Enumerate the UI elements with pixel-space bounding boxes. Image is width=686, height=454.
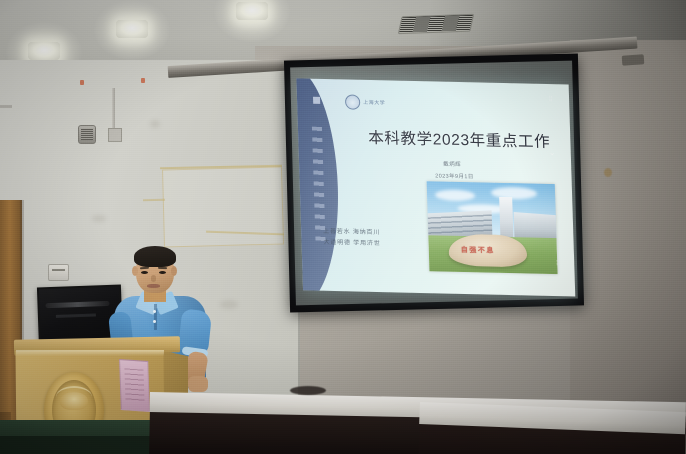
presenter-ear-right: [171, 266, 177, 276]
lecture-hall-photo: 上海大学 本科教学2023年重点工作 戴炳辉 2023年9月1日 上善若水 海纳…: [0, 0, 686, 454]
presenter-eye-left: [141, 271, 148, 274]
tape-strip: [143, 199, 165, 201]
presenter-eye-right: [159, 271, 166, 274]
presenter-hand-right: [188, 376, 208, 392]
presenter-placket: [154, 304, 157, 330]
slide-title: 本科教学2023年重点工作: [368, 126, 569, 153]
tape-outline-rectangle: [162, 166, 284, 247]
presenter-brow-right: [158, 267, 167, 269]
slide-date: 2023年9月1日: [399, 171, 509, 181]
photo-engraved-stone: 自强不息: [448, 234, 527, 268]
slide-author: 戴炳辉: [407, 159, 497, 169]
conduit-junction-box: [108, 128, 122, 142]
downlight-icon: [116, 20, 148, 38]
wall-speaker-icon: [78, 125, 96, 144]
conduit-pipe: [112, 88, 115, 130]
university-emblem-icon: [345, 94, 360, 109]
projection-screen: 上海大学 本科教学2023年重点工作 戴炳辉 2023年9月1日 上善若水 海纳…: [284, 53, 584, 312]
ac-vent-icon: [398, 14, 474, 35]
presenter-button: [153, 310, 156, 313]
campus-photo: 自强不息: [427, 181, 558, 274]
wall-smudge: [220, 300, 238, 309]
presenter-ear-left: [132, 266, 138, 276]
university-wordmark: 上海大学: [363, 99, 385, 106]
photo-stone-inscription: 自强不息: [461, 245, 495, 256]
power-outlet-icon[interactable]: [48, 264, 69, 281]
wall-far-right: [570, 40, 686, 454]
slide-motto-line-2: 大道明德 学用济世: [323, 238, 380, 250]
wall-smudge: [150, 120, 160, 128]
wall-mark: [604, 168, 612, 177]
slide-band-square: [313, 97, 320, 104]
presenter-hair: [134, 246, 176, 267]
podium-emblem-glyph: [60, 392, 88, 410]
object-on-table[interactable]: [290, 386, 326, 395]
downlight-icon: [28, 42, 60, 60]
slide-motto: 上善若水 海纳百川 大道明德 学用济世: [323, 227, 381, 250]
presenter-mouth: [147, 284, 160, 288]
shanghai-university-logo: 上海大学: [345, 94, 386, 110]
projected-slide: 上海大学 本科教学2023年重点工作 戴炳辉 2023年9月1日 上善若水 海纳…: [296, 78, 575, 296]
screen-headrail-cap: [622, 54, 645, 66]
slide-mark-top: ⦙⦙: [549, 96, 552, 104]
wall-bracket: [0, 105, 12, 108]
lectern-bevel: [16, 350, 164, 356]
presenter-button: [153, 320, 156, 323]
wall-clip: [80, 80, 84, 85]
photo-tower: [499, 197, 513, 239]
presenter-nose: [151, 275, 156, 282]
wall-smudge: [92, 215, 106, 222]
chevron-down-icon: ⌄: [549, 148, 556, 157]
slide-mark-bottom: ⦙: [556, 260, 558, 268]
podium-notice-paper: [119, 359, 150, 412]
wall-clip: [141, 78, 145, 83]
downlight-icon: [236, 2, 266, 18]
